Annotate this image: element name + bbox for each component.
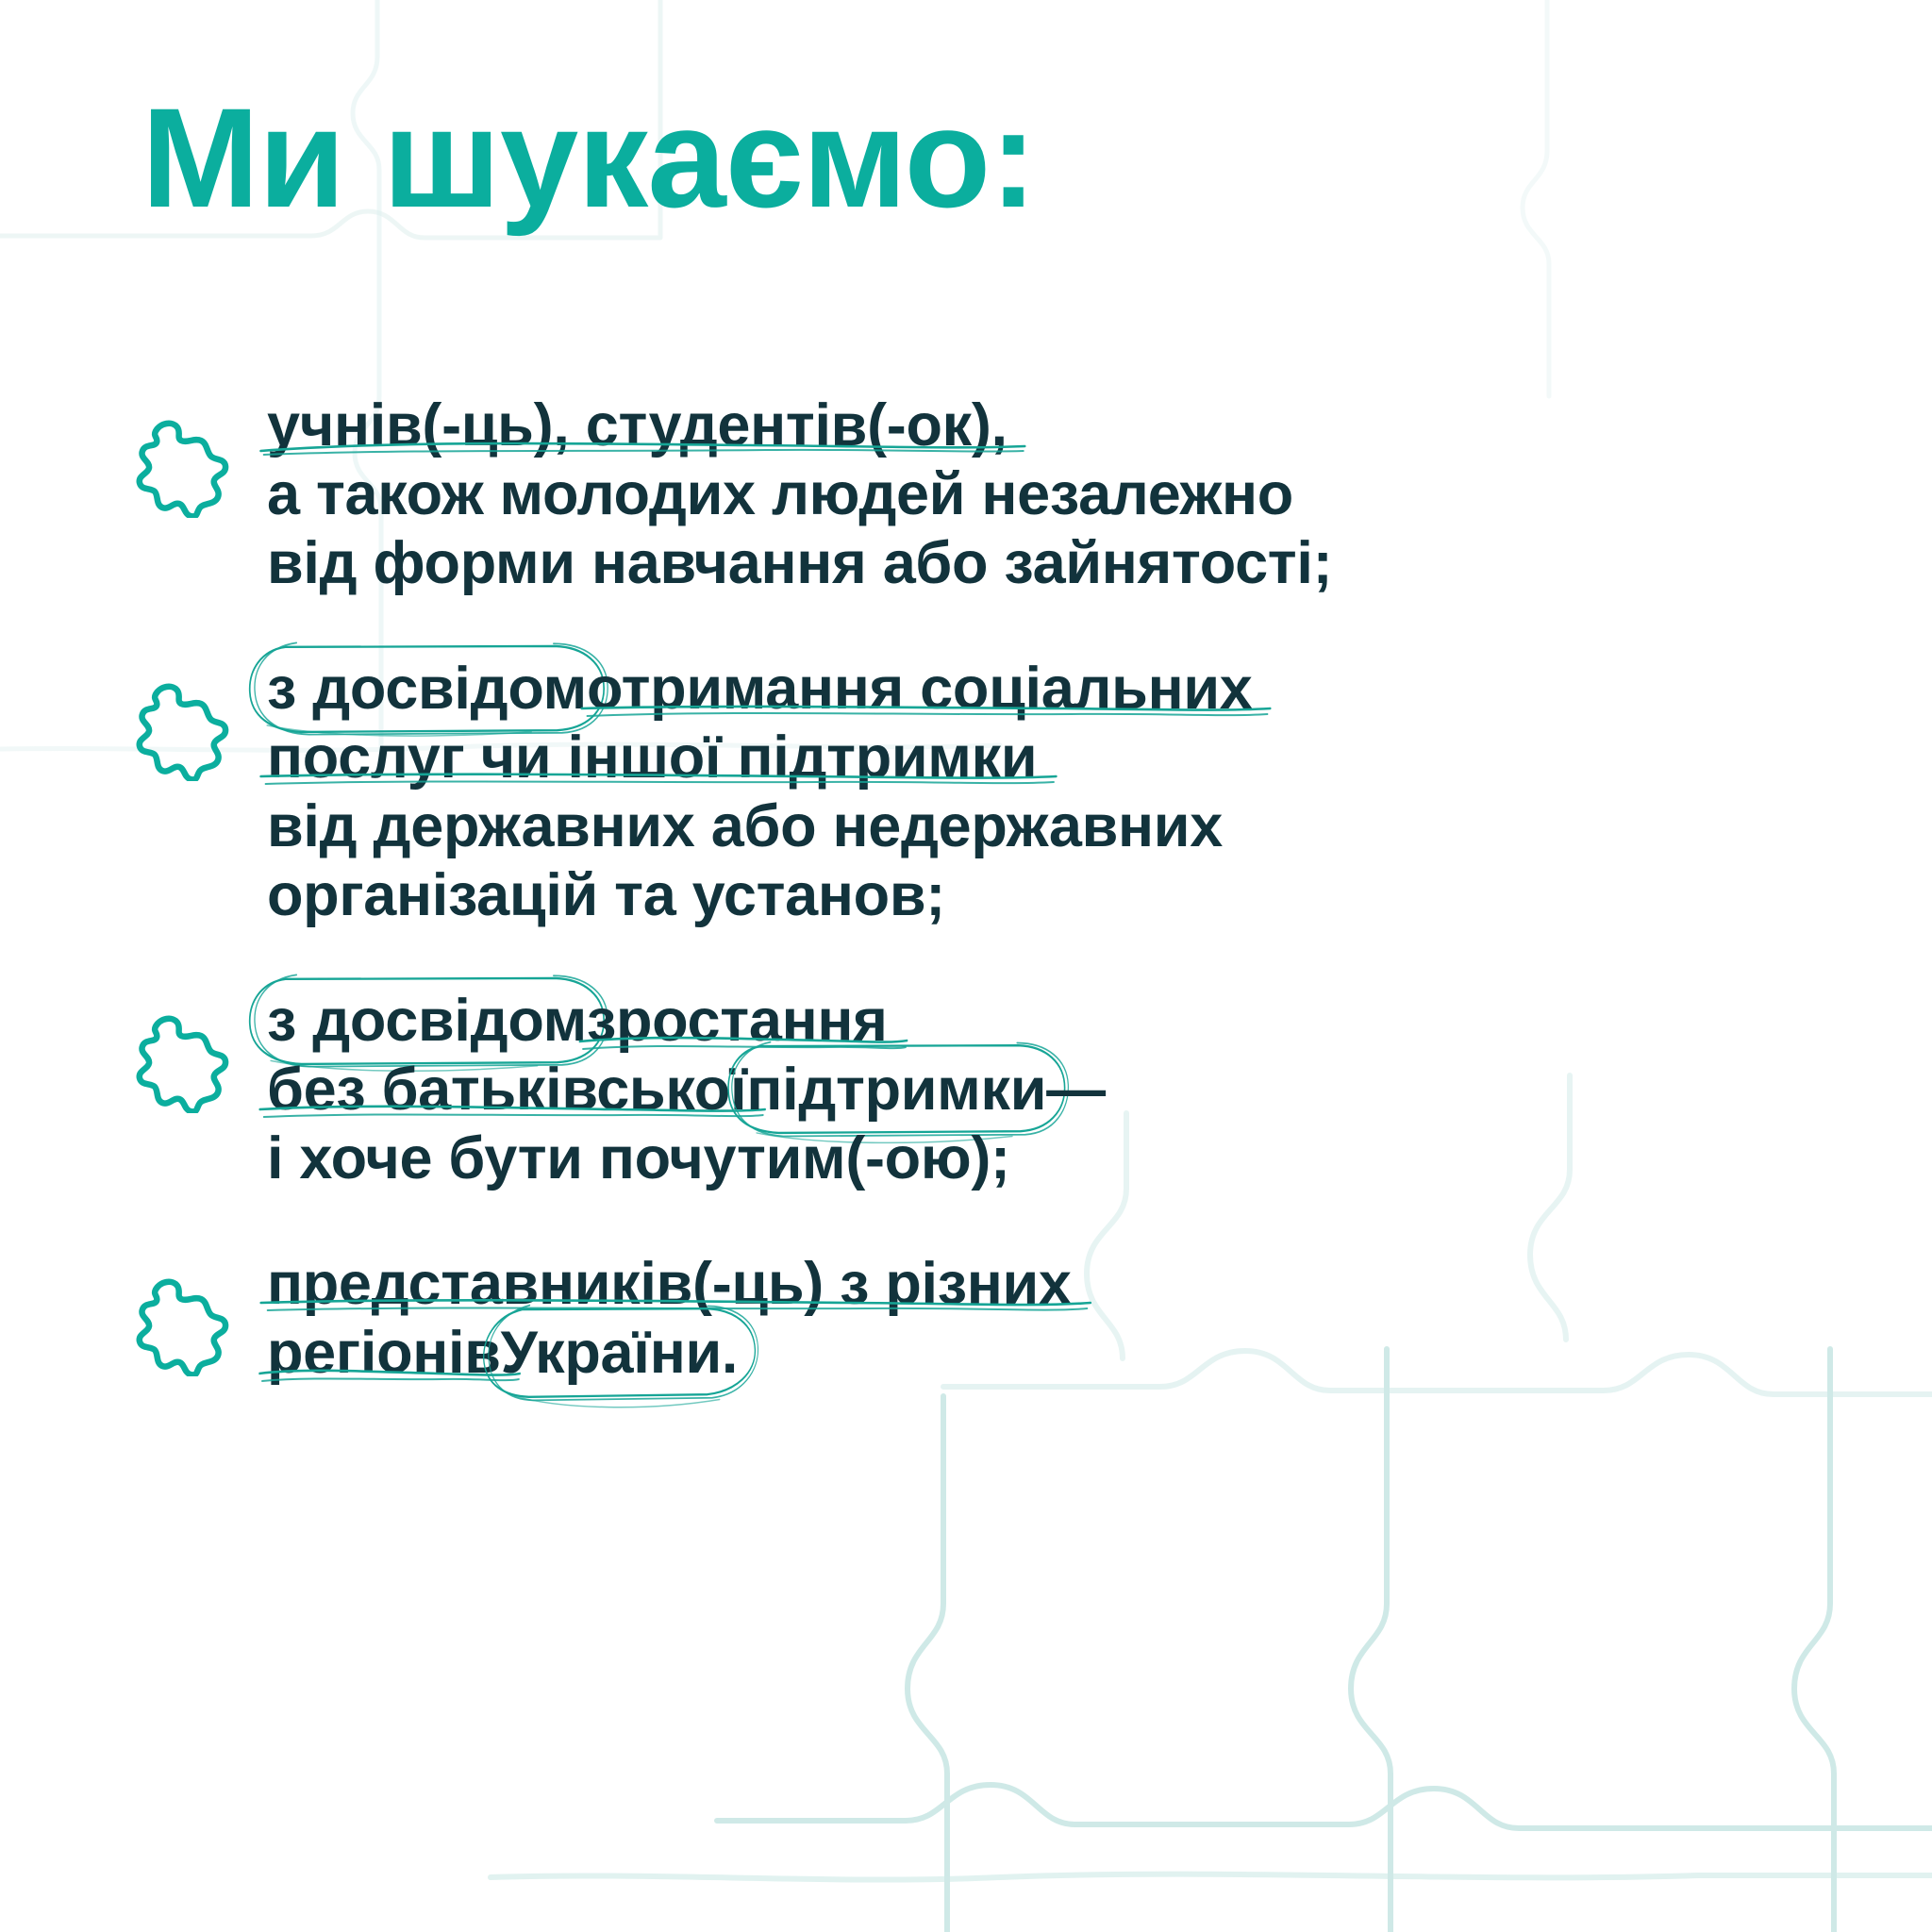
text-segment: представників(-ць) з різних xyxy=(267,1250,1072,1319)
text-line: без батьківської підтримки xyxy=(267,1056,1932,1124)
text-line: представників(-ць) з різних xyxy=(267,1250,1932,1319)
text-line: учнів(-ць), студентів(-ок), xyxy=(267,391,1932,460)
text-segment: організацій та установ; xyxy=(267,861,945,930)
list-item: представників(-ць) з різних регіонів xyxy=(0,1250,1932,1388)
text-line: з досвідом зростання xyxy=(267,987,1932,1056)
em-dash: — xyxy=(1046,1056,1106,1124)
segment-label: а також молодих людей незалежно xyxy=(267,461,1293,527)
puzzle-piece-icon xyxy=(132,1008,231,1113)
highlighted-term: з досвідом xyxy=(267,987,587,1056)
text-line: від державних або недержавних xyxy=(267,792,1932,861)
puzzle-piece-icon xyxy=(132,412,231,518)
list-item-text: представників(-ць) з різних регіонів xyxy=(267,1250,1932,1388)
segment-label: від державних або недержавних xyxy=(267,793,1223,859)
text-segment: від державних або недержавних xyxy=(267,792,1223,861)
segment-label: організацій та установ; xyxy=(267,862,945,928)
list-item-text: учнів(-ць), студентів(-ок), а також моло… xyxy=(267,391,1932,598)
segment-label: підтримки xyxy=(746,1057,1046,1123)
text-segment: послуг чи іншої підтримки xyxy=(267,724,1037,792)
list-item: учнів(-ць), студентів(-ок), а також моло… xyxy=(0,391,1932,598)
highlighted-term: з досвідом xyxy=(267,655,587,724)
segment-label: від форми навчання або зайнятості; xyxy=(267,530,1332,596)
text-line: від форми навчання або зайнятості; xyxy=(267,529,1932,598)
text-line: і хоче бути почутим(-ою); xyxy=(267,1124,1932,1193)
puzzle-piece-icon xyxy=(132,1271,231,1376)
segment-label: без батьківської xyxy=(267,1057,746,1123)
segment-label: отримання соціальних xyxy=(587,656,1253,722)
text-segment: без батьківської xyxy=(267,1056,746,1124)
list-item-text: з досвідом отримання соціальних xyxy=(267,655,1932,930)
segment-label: з досвідом xyxy=(267,988,587,1054)
segment-label: зростання xyxy=(587,988,888,1054)
text-segment: а також молодих людей незалежно xyxy=(267,460,1293,529)
page-title: Ми шукаємо: xyxy=(142,87,1036,228)
text-segment: учнів(-ць), студентів(-ок), xyxy=(267,391,1008,460)
text-line: а також молодих людей незалежно xyxy=(267,460,1932,529)
text-segment: і хоче бути почутим(-ою); xyxy=(267,1124,1010,1193)
text-line: регіонів України. xyxy=(267,1319,1932,1388)
text-segment: отримання соціальних xyxy=(587,655,1253,724)
requirements-list: учнів(-ць), студентів(-ок), а також моло… xyxy=(0,391,1932,1444)
text-segment: від форми навчання або зайнятості; xyxy=(267,529,1332,598)
segment-label: регіонів xyxy=(267,1320,501,1386)
puzzle-piece-icon xyxy=(132,675,231,781)
highlighted-term: України. xyxy=(501,1319,738,1388)
segment-label: України. xyxy=(501,1320,738,1386)
segment-label: учнів(-ць), студентів(-ок), xyxy=(267,392,1008,458)
segment-label: — xyxy=(1046,1057,1106,1123)
segment-label: послуг чи іншої підтримки xyxy=(267,724,1037,791)
segment-label: представників(-ць) з різних xyxy=(267,1251,1072,1317)
text-segment: зростання xyxy=(587,987,888,1056)
list-item: з досвідом отримання соціальних xyxy=(0,655,1932,930)
text-line: послуг чи іншої підтримки xyxy=(267,724,1932,792)
text-segment: регіонів xyxy=(267,1319,501,1388)
poster-canvas: Ми шукаємо: учнів(-ць), студентів(-ок), xyxy=(0,0,1932,1932)
list-item: з досвідом зростання xyxy=(0,987,1932,1193)
list-item-text: з досвідом зростання xyxy=(267,987,1932,1193)
segment-label: з досвідом xyxy=(267,656,587,722)
text-line: з досвідом отримання соціальних xyxy=(267,655,1932,724)
segment-label: і хоче бути почутим(-ою); xyxy=(267,1125,1010,1191)
highlighted-term: підтримки xyxy=(746,1056,1046,1124)
text-line: організацій та установ; xyxy=(267,861,1932,930)
